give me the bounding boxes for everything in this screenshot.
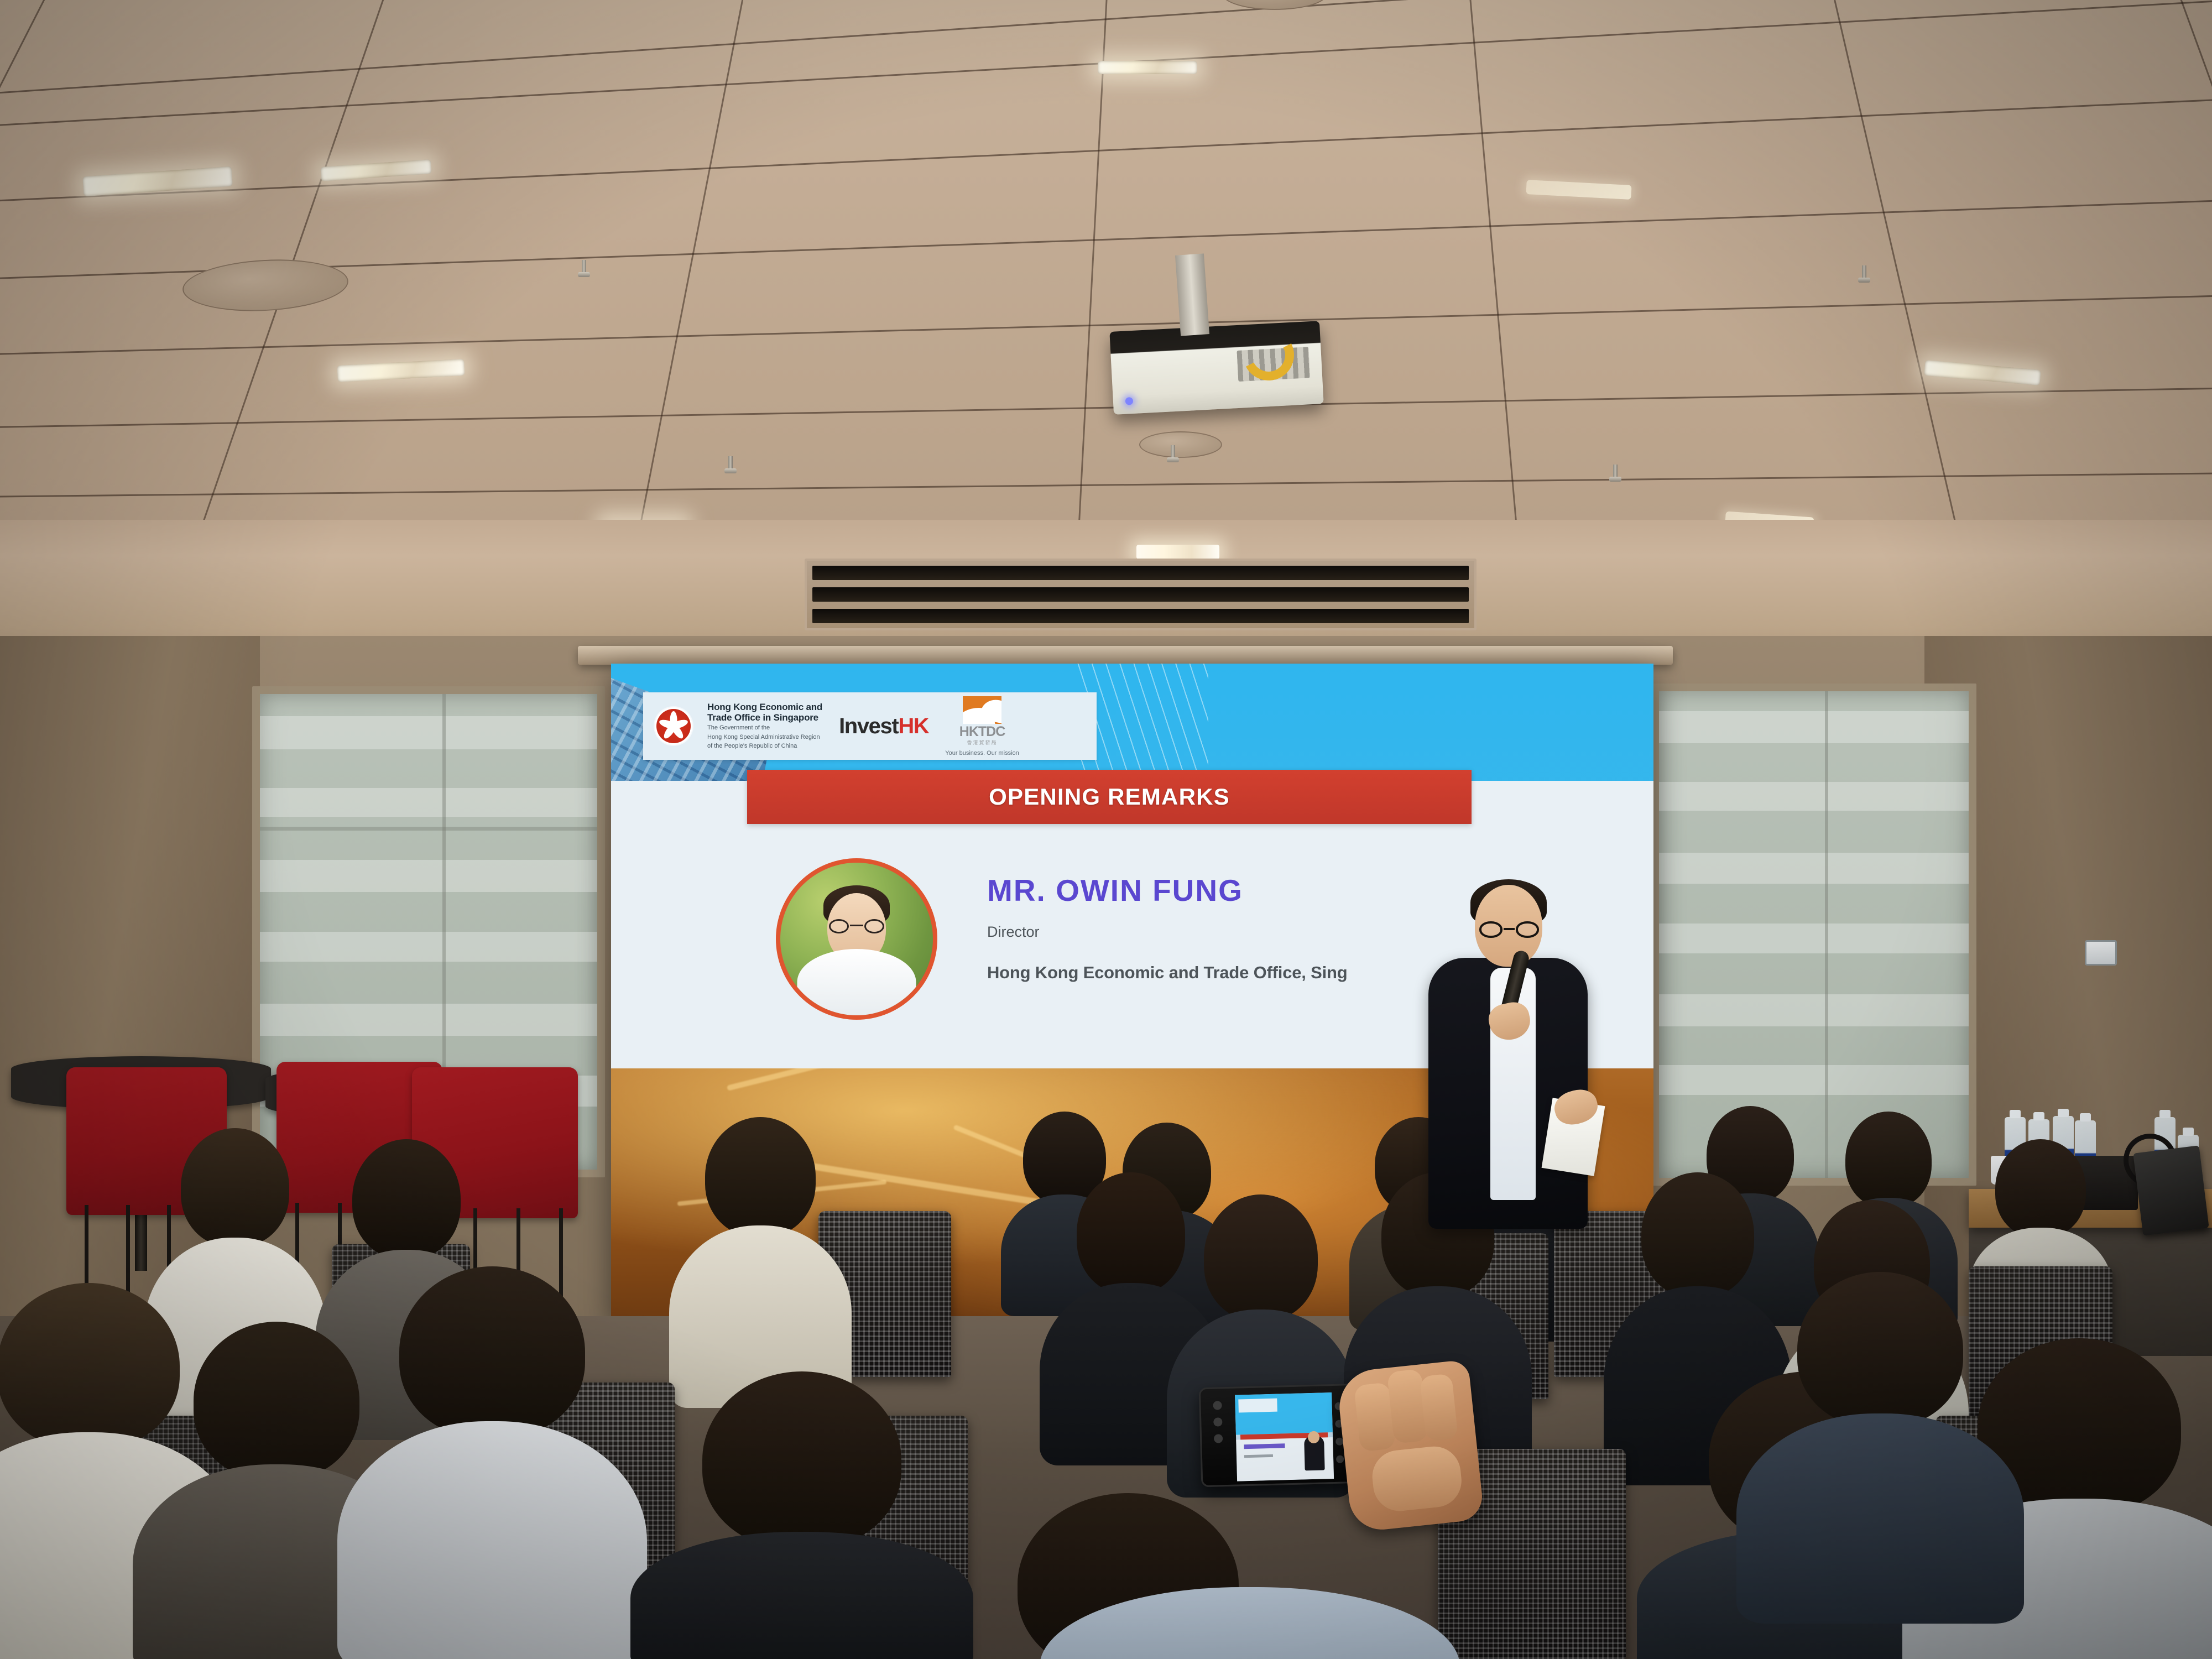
sprinkler-icon (578, 260, 590, 282)
investhk-suffix: HK (898, 714, 928, 738)
slide-logo-bar: Hong Kong Economic and Trade Office in S… (643, 692, 1097, 760)
hktdc-name: HKTDC (945, 725, 1019, 739)
portrait-glasses-icon (829, 919, 884, 933)
projector-mount (1175, 253, 1209, 336)
conference-room-photo: Hong Kong Economic and Trade Office in S… (0, 0, 2212, 1659)
hketo-line1: Hong Kong Economic and (707, 702, 822, 712)
audience-member-front (630, 1371, 973, 1659)
wall-plate-icon (2085, 940, 2117, 966)
audience-member-front (337, 1266, 647, 1659)
sprinkler-icon (1858, 265, 1870, 288)
hketo-line2: Trade Office in Singapore (707, 712, 822, 723)
ceiling-speaker-icon (1222, 0, 1327, 10)
ceiling-speaker-icon (181, 255, 349, 315)
slide-banner: OPENING REMARKS (747, 770, 1472, 824)
phone-viewfinder (1235, 1392, 1334, 1481)
sprinkler-icon (724, 456, 737, 478)
sprinkler-icon (1167, 445, 1179, 467)
ceiling-light (1526, 180, 1631, 200)
bauhinia-emblem-icon (656, 709, 691, 743)
audience-member-front (1040, 1510, 1460, 1659)
speaker-portrait (776, 858, 937, 1020)
hketo-sub3: of the People's Republic of China (707, 743, 822, 750)
hktdc-logo: HKTDC 香港貿發局 Your business. Our mission (945, 696, 1019, 757)
sprinkler-icon (1609, 465, 1621, 487)
ceiling-light (320, 159, 431, 181)
hand-holding-phone (1336, 1359, 1485, 1532)
ceiling-speaker-icon (1139, 431, 1222, 458)
investhk-logo: InvestHK (839, 714, 928, 739)
ceiling-light (1924, 360, 2041, 385)
tablet-on-stand (2133, 1145, 2209, 1236)
ceiling-light (337, 359, 465, 382)
hketo-logo-text: Hong Kong Economic and Trade Office in S… (707, 702, 822, 750)
investhk-prefix: Invest (839, 714, 898, 738)
ceiling-light (1098, 61, 1197, 74)
audience-member (669, 1117, 852, 1405)
audience-member-front (1736, 1272, 2024, 1615)
screen-housing (578, 646, 1673, 665)
hvac-air-grille (805, 559, 1477, 630)
hketo-sub1: The Government of the (707, 724, 822, 732)
hktdc-chinese: 香港貿發局 (945, 739, 1019, 746)
portrait-shirt (797, 949, 916, 1015)
banner-title: OPENING REMARKS (989, 784, 1230, 810)
hktdc-mark-icon (963, 696, 1001, 724)
hktdc-tagline: Your business. Our mission (945, 750, 1019, 757)
soffit-light (1136, 545, 1219, 559)
hketo-sub2: Hong Kong Special Administrative Region (707, 734, 822, 741)
presenter-glasses-icon (1479, 921, 1539, 938)
ceiling-projector (1109, 321, 1323, 415)
presenter (1424, 885, 1590, 1228)
